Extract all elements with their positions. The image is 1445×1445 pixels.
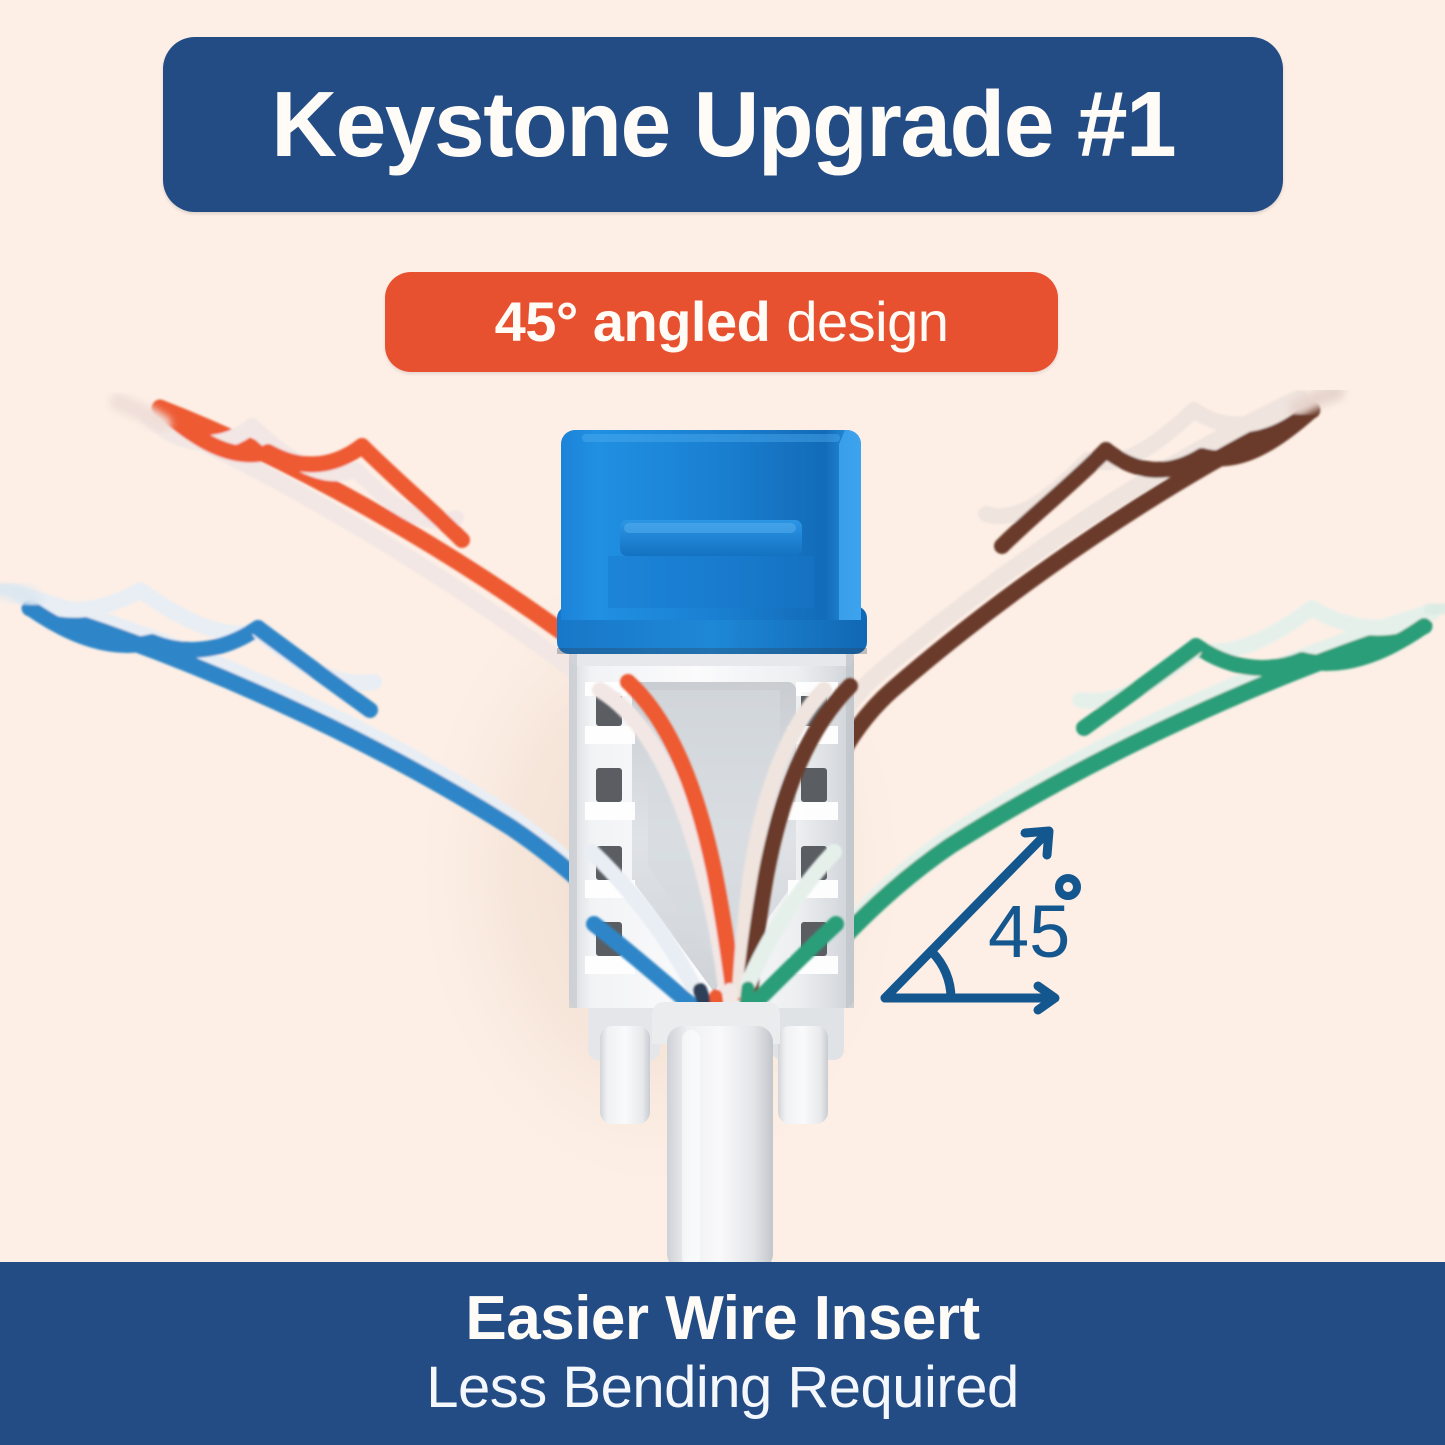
header-banner: Keystone Upgrade #1 — [163, 37, 1283, 212]
angled-design-badge: 45° angleddesign — [385, 272, 1058, 372]
page-title: Keystone Upgrade #1 — [271, 78, 1175, 171]
badge-text: 45° angleddesign — [495, 294, 949, 350]
badge-text-regular: design — [786, 290, 948, 353]
angle-45-diagram: 45 — [875, 805, 1105, 1020]
footer-banner: Easier Wire Insert Less Bending Required — [0, 1262, 1445, 1445]
product-photo — [0, 390, 1445, 1270]
infographic-canvas: Keystone Upgrade #1 45° angleddesign — [0, 0, 1445, 1445]
footer-title: Easier Wire Insert — [465, 1286, 979, 1351]
badge-text-bold: 45° angled — [495, 290, 771, 353]
angle-arc — [932, 952, 951, 998]
footer-subtitle: Less Bending Required — [426, 1356, 1018, 1421]
angle-value-label: 45 — [988, 890, 1070, 973]
jack-blue-cap — [557, 430, 867, 654]
